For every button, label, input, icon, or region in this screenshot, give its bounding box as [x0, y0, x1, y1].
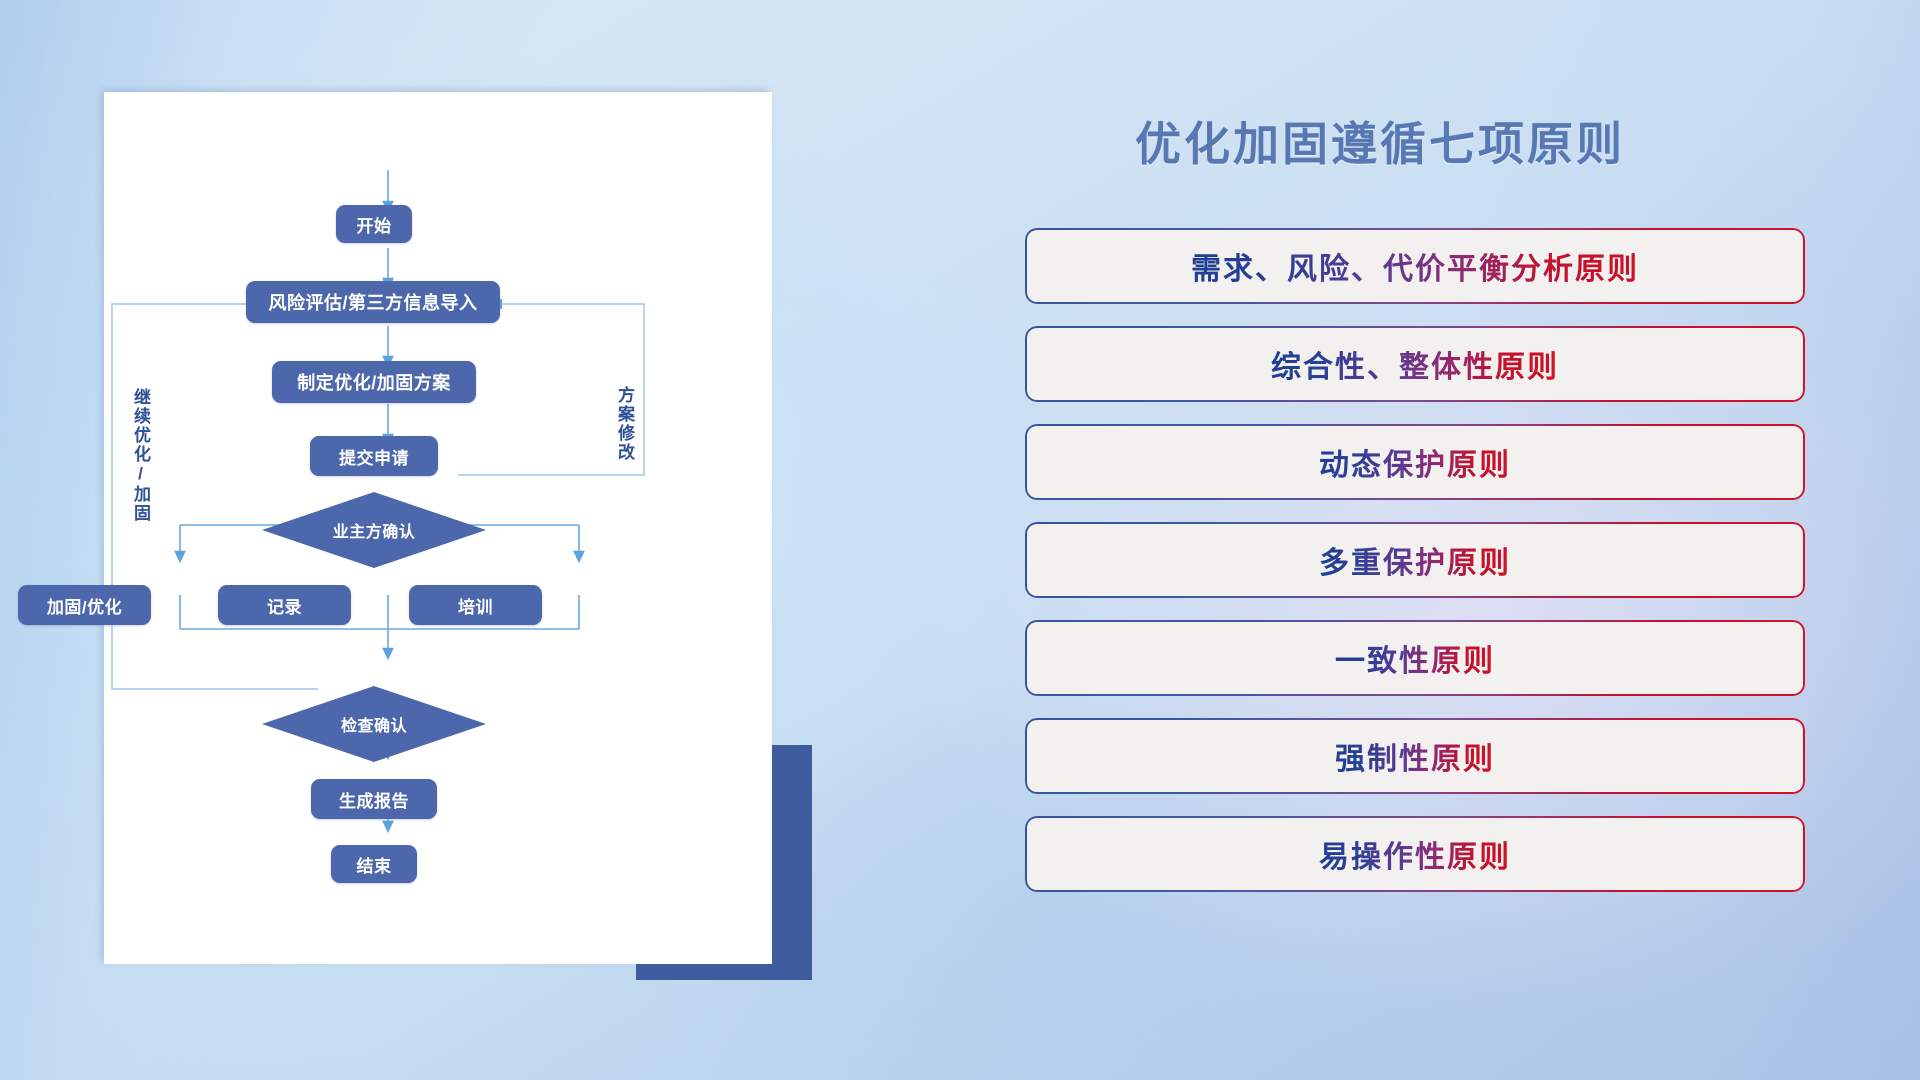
flow-node-label: 业主方确认 — [333, 518, 416, 542]
flow-node-training[interactable]: 培训 — [409, 585, 542, 625]
flow-node-owner-confirmation[interactable]: 业主方确认 — [262, 492, 486, 568]
principle-label: 综合性、整体性原则 — [1271, 342, 1559, 386]
flowchart-panel: 开始 风险评估/第三方信息导入 制定优化/加固方案 提交申请 业主方确认 加固/… — [0, 0, 840, 1080]
flow-node-label: 培训 — [458, 593, 493, 618]
flow-node-label: 制定优化/加固方案 — [297, 369, 451, 395]
flow-node-label: 开始 — [357, 212, 392, 237]
flow-node-label: 检查确认 — [341, 712, 407, 736]
principle-card-6[interactable]: 强制性原则 — [1025, 718, 1805, 794]
principle-card-1[interactable]: 需求、风险、代价平衡分析原则 — [1025, 228, 1805, 304]
principle-label: 一致性原则 — [1335, 636, 1495, 680]
flow-node-submit-application[interactable]: 提交申请 — [310, 436, 438, 476]
principle-card-3[interactable]: 动态保护原则 — [1025, 424, 1805, 500]
edge-label-plan-revision: 方案修改 — [612, 386, 637, 496]
principle-label: 多重保护原则 — [1319, 538, 1511, 582]
flow-node-label: 风险评估/第三方信息导入 — [269, 289, 478, 315]
flow-node-reinforce-optimize[interactable]: 加固/优化 — [18, 585, 151, 625]
edge-label-continue-optimize: 继续优化/加固 — [128, 388, 153, 538]
flow-node-label: 生成报告 — [339, 787, 409, 812]
principle-card-7[interactable]: 易操作性原则 — [1025, 816, 1805, 892]
flow-node-make-plan[interactable]: 制定优化/加固方案 — [272, 361, 476, 403]
flow-node-label: 记录 — [267, 593, 302, 618]
flow-node-generate-report[interactable]: 生成报告 — [311, 779, 437, 819]
flow-node-end[interactable]: 结束 — [331, 845, 417, 883]
principle-label: 强制性原则 — [1335, 734, 1495, 778]
principle-card-2[interactable]: 综合性、整体性原则 — [1025, 326, 1805, 402]
flow-node-risk-assessment[interactable]: 风险评估/第三方信息导入 — [246, 281, 500, 323]
flow-node-start[interactable]: 开始 — [336, 205, 412, 243]
principle-card-5[interactable]: 一致性原则 — [1025, 620, 1805, 696]
flow-node-label: 加固/优化 — [47, 593, 122, 618]
principle-label: 动态保护原则 — [1319, 440, 1511, 484]
flow-node-label: 结束 — [357, 852, 392, 877]
flow-node-label: 提交申请 — [339, 444, 409, 469]
principles-panel: 优化加固遵循七项原则 需求、风险、代价平衡分析原则 综合性、整体性原则 动态保护… — [840, 0, 1920, 1080]
principle-label: 需求、风险、代价平衡分析原则 — [1191, 244, 1639, 288]
principles-list: 需求、风险、代价平衡分析原则 综合性、整体性原则 动态保护原则 多重保护原则 一… — [1025, 228, 1805, 914]
principle-label: 易操作性原则 — [1319, 832, 1511, 876]
principle-card-4[interactable]: 多重保护原则 — [1025, 522, 1805, 598]
flow-node-record[interactable]: 记录 — [218, 585, 351, 625]
flow-node-check-confirm[interactable]: 检查确认 — [262, 686, 486, 762]
page-title: 优化加固遵循七项原则 — [840, 108, 1920, 174]
